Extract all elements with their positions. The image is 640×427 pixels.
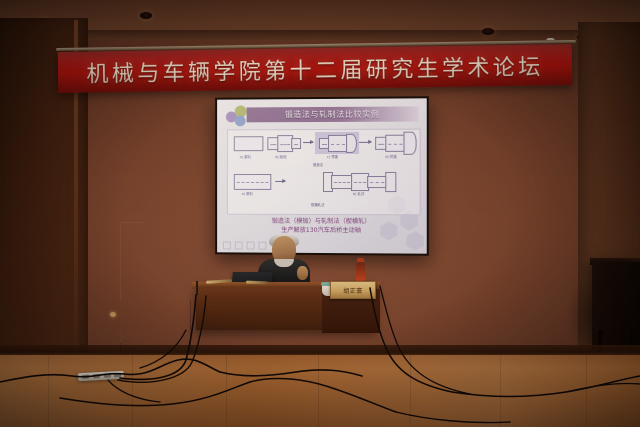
nameplate-text: 胡正寰 <box>343 286 363 295</box>
diagram-process-note: 锻造法 <box>313 162 323 167</box>
diagram-label: b) 轧件 <box>353 191 364 196</box>
banner-gloss <box>58 44 573 93</box>
floor-plank-line <box>500 355 501 427</box>
diagram-part-forged-head <box>346 134 357 153</box>
ceiling-downlight <box>140 12 152 19</box>
diagram-label: a) 原料 <box>240 154 251 159</box>
process-arrow <box>303 142 313 143</box>
floor-plank-line <box>48 355 49 427</box>
wall-panel-joint <box>120 222 145 343</box>
diagram-label: a) 原料 <box>242 191 253 196</box>
diagram-label: c) 预锻 <box>327 154 338 159</box>
diagram-process-note: 楔横轧法 <box>311 202 325 207</box>
diagram-part-rolled <box>367 176 387 188</box>
lecture-hall-photo: 机械与车辆学院第十二届研究生学术论坛 锻造法与轧制法比较实例 <box>0 0 640 427</box>
wall-fixture <box>110 312 116 317</box>
toolbar-icon <box>223 241 231 249</box>
diagram-part-billet <box>234 136 264 151</box>
floor-plank-line <box>132 355 133 427</box>
power-socket <box>114 373 121 377</box>
toolbar-icon <box>235 242 243 250</box>
floor-plank-line <box>318 355 319 427</box>
microphone-stand <box>196 281 198 295</box>
slide-diagram-area: a) 原料 b) 制坯 c) 预锻 d) 终锻 锻造法 a) 原料 b) 轧件 … <box>227 129 421 216</box>
projection-screen-frame: 锻造法与轧制法比较实例 a) 原料 b) 制坯 c) 预锻 <box>215 96 429 255</box>
projection-screen: 锻造法与轧制法比较实例 a) 原料 b) 制坯 c) 预锻 <box>217 98 427 253</box>
speaker-nameplate: 胡正寰 <box>330 281 376 299</box>
slide-caption: 锻造法（模锻）与轧制法（楔横轧） 生产解放130汽车后桥主动轴 <box>217 217 427 236</box>
power-socket <box>82 375 89 379</box>
diagram-label: d) 终锻 <box>385 154 396 159</box>
power-socket <box>93 374 100 378</box>
slide-title: 锻造法与轧制法比较实例 <box>285 109 380 121</box>
power-socket <box>104 373 111 377</box>
diagram-part-raw <box>234 174 271 190</box>
diagram-part-rolled-end <box>385 172 396 192</box>
ceiling-downlight <box>482 28 494 35</box>
stage-floor <box>0 355 640 427</box>
diagram-part-rolled <box>331 175 353 189</box>
diagram-label: b) 制坯 <box>275 154 286 159</box>
diagram-part-final-flange <box>403 132 416 155</box>
decor-circle-blue <box>235 115 246 126</box>
floor-plank-line <box>586 355 587 427</box>
floor-plank-line <box>410 355 411 427</box>
process-arrow <box>275 181 285 182</box>
diagram-part-preform <box>291 138 301 149</box>
slide-title-bar: 锻造法与轧制法比较实例 <box>247 106 419 122</box>
floor-plank-line <box>226 355 227 427</box>
event-banner: 机械与车辆学院第十二届研究生学术论坛 <box>58 44 573 93</box>
diagram-part-forged <box>328 135 348 152</box>
speaker-hand <box>297 266 308 280</box>
process-arrow <box>359 142 371 143</box>
toolbar-icon <box>247 242 255 250</box>
diagram-part-final <box>385 135 405 152</box>
